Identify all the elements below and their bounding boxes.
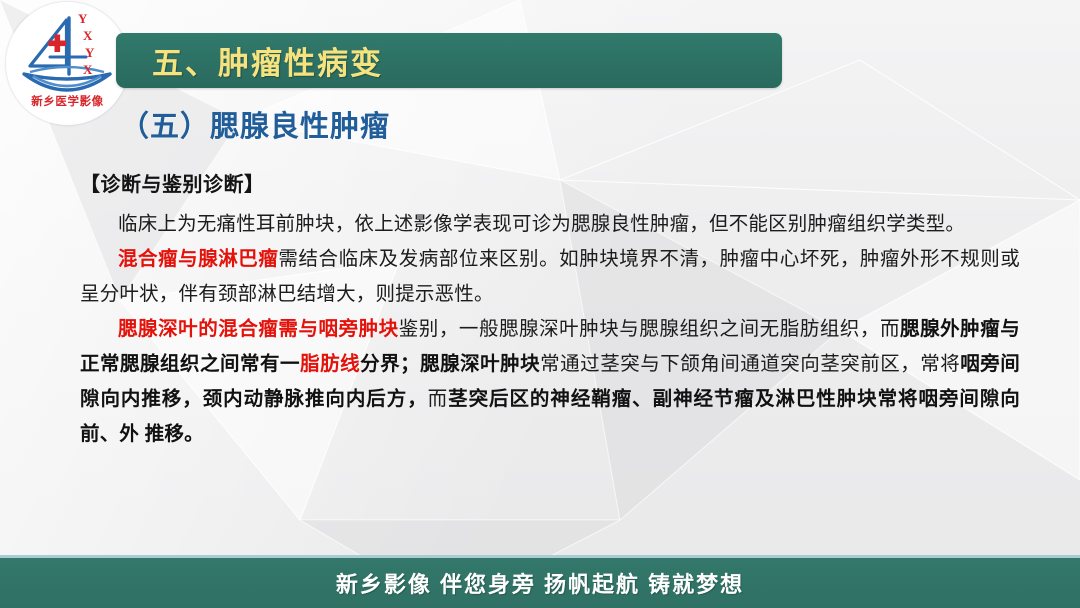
- text-run-normal: 临床上为无痛性耳前肿块，依上述影像学表现可诊为腮腺良性肿瘤，但不能区别肿瘤组织学…: [118, 213, 965, 235]
- slide-subtitle: （五）腮腺良性肿瘤: [120, 103, 390, 145]
- text-run-red-bold: 腮腺深叶的混合瘤需与咽旁肿块: [118, 318, 399, 340]
- text-run-normal: 而: [428, 388, 448, 410]
- footer-bar: 新乡影像 伴您身旁 扬帆起航 铸就梦想: [0, 558, 1080, 608]
- para-2: 混合瘤与腺淋巴瘤需结合临床及发病部位来区别。如肿块境界不清，肿瘤中心坏死，肿瘤外…: [80, 242, 1020, 312]
- para-1: 临床上为无痛性耳前肿块，依上述影像学表现可诊为腮腺良性肿瘤，但不能区别肿瘤组织学…: [80, 207, 1020, 242]
- slide-canvas: Y X Y X 新乡医学影像 五、肿瘤性病变 （五）腮腺良性肿瘤 【诊断与鉴别诊…: [0, 0, 1080, 608]
- slide-body: 【诊断与鉴别诊断】 临床上为无痛性耳前肿块，依上述影像学表现可诊为腮腺良性肿瘤，…: [80, 168, 1020, 452]
- sailboat-icon: [24, 18, 110, 90]
- section-heading: 【诊断与鉴别诊断】: [80, 168, 1020, 197]
- text-run-normal: 鉴别，一般腮腺深叶肿块与腮腺组织之间无脂肪组织，而: [399, 318, 900, 340]
- title-banner-text: 五、肿瘤性病变: [152, 38, 383, 83]
- title-banner: 五、肿瘤性病变: [116, 33, 782, 88]
- svg-text:X: X: [83, 62, 93, 77]
- text-run-red-bold: 混合瘤与腺淋巴瘤: [118, 248, 278, 270]
- svg-text:Y: Y: [85, 45, 95, 60]
- svg-text:Y: Y: [78, 11, 88, 26]
- text-run-red-bold: 脂肪线: [300, 353, 360, 375]
- logo-badge: Y X Y X 新乡医学影像: [6, 2, 129, 125]
- text-run-normal: 常通过茎突与下颌角间通道突向茎突前区，常将: [540, 353, 960, 375]
- logo-caption: 新乡医学影像: [31, 94, 104, 108]
- text-run-bold: 分界；腮腺深叶肿块: [360, 353, 540, 375]
- footer-slogan: 新乡影像 伴您身旁 扬帆起航 铸就梦想: [336, 567, 744, 599]
- paragraph-list: 临床上为无痛性耳前肿块，依上述影像学表现可诊为腮腺良性肿瘤，但不能区别肿瘤组织学…: [80, 207, 1020, 452]
- svg-text:X: X: [83, 28, 93, 43]
- para-3: 腮腺深叶的混合瘤需与咽旁肿块鉴别，一般腮腺深叶肿块与腮腺组织之间无脂肪组织，而腮…: [80, 312, 1020, 452]
- logo-artwork: Y X Y X 新乡医学影像: [6, 2, 129, 125]
